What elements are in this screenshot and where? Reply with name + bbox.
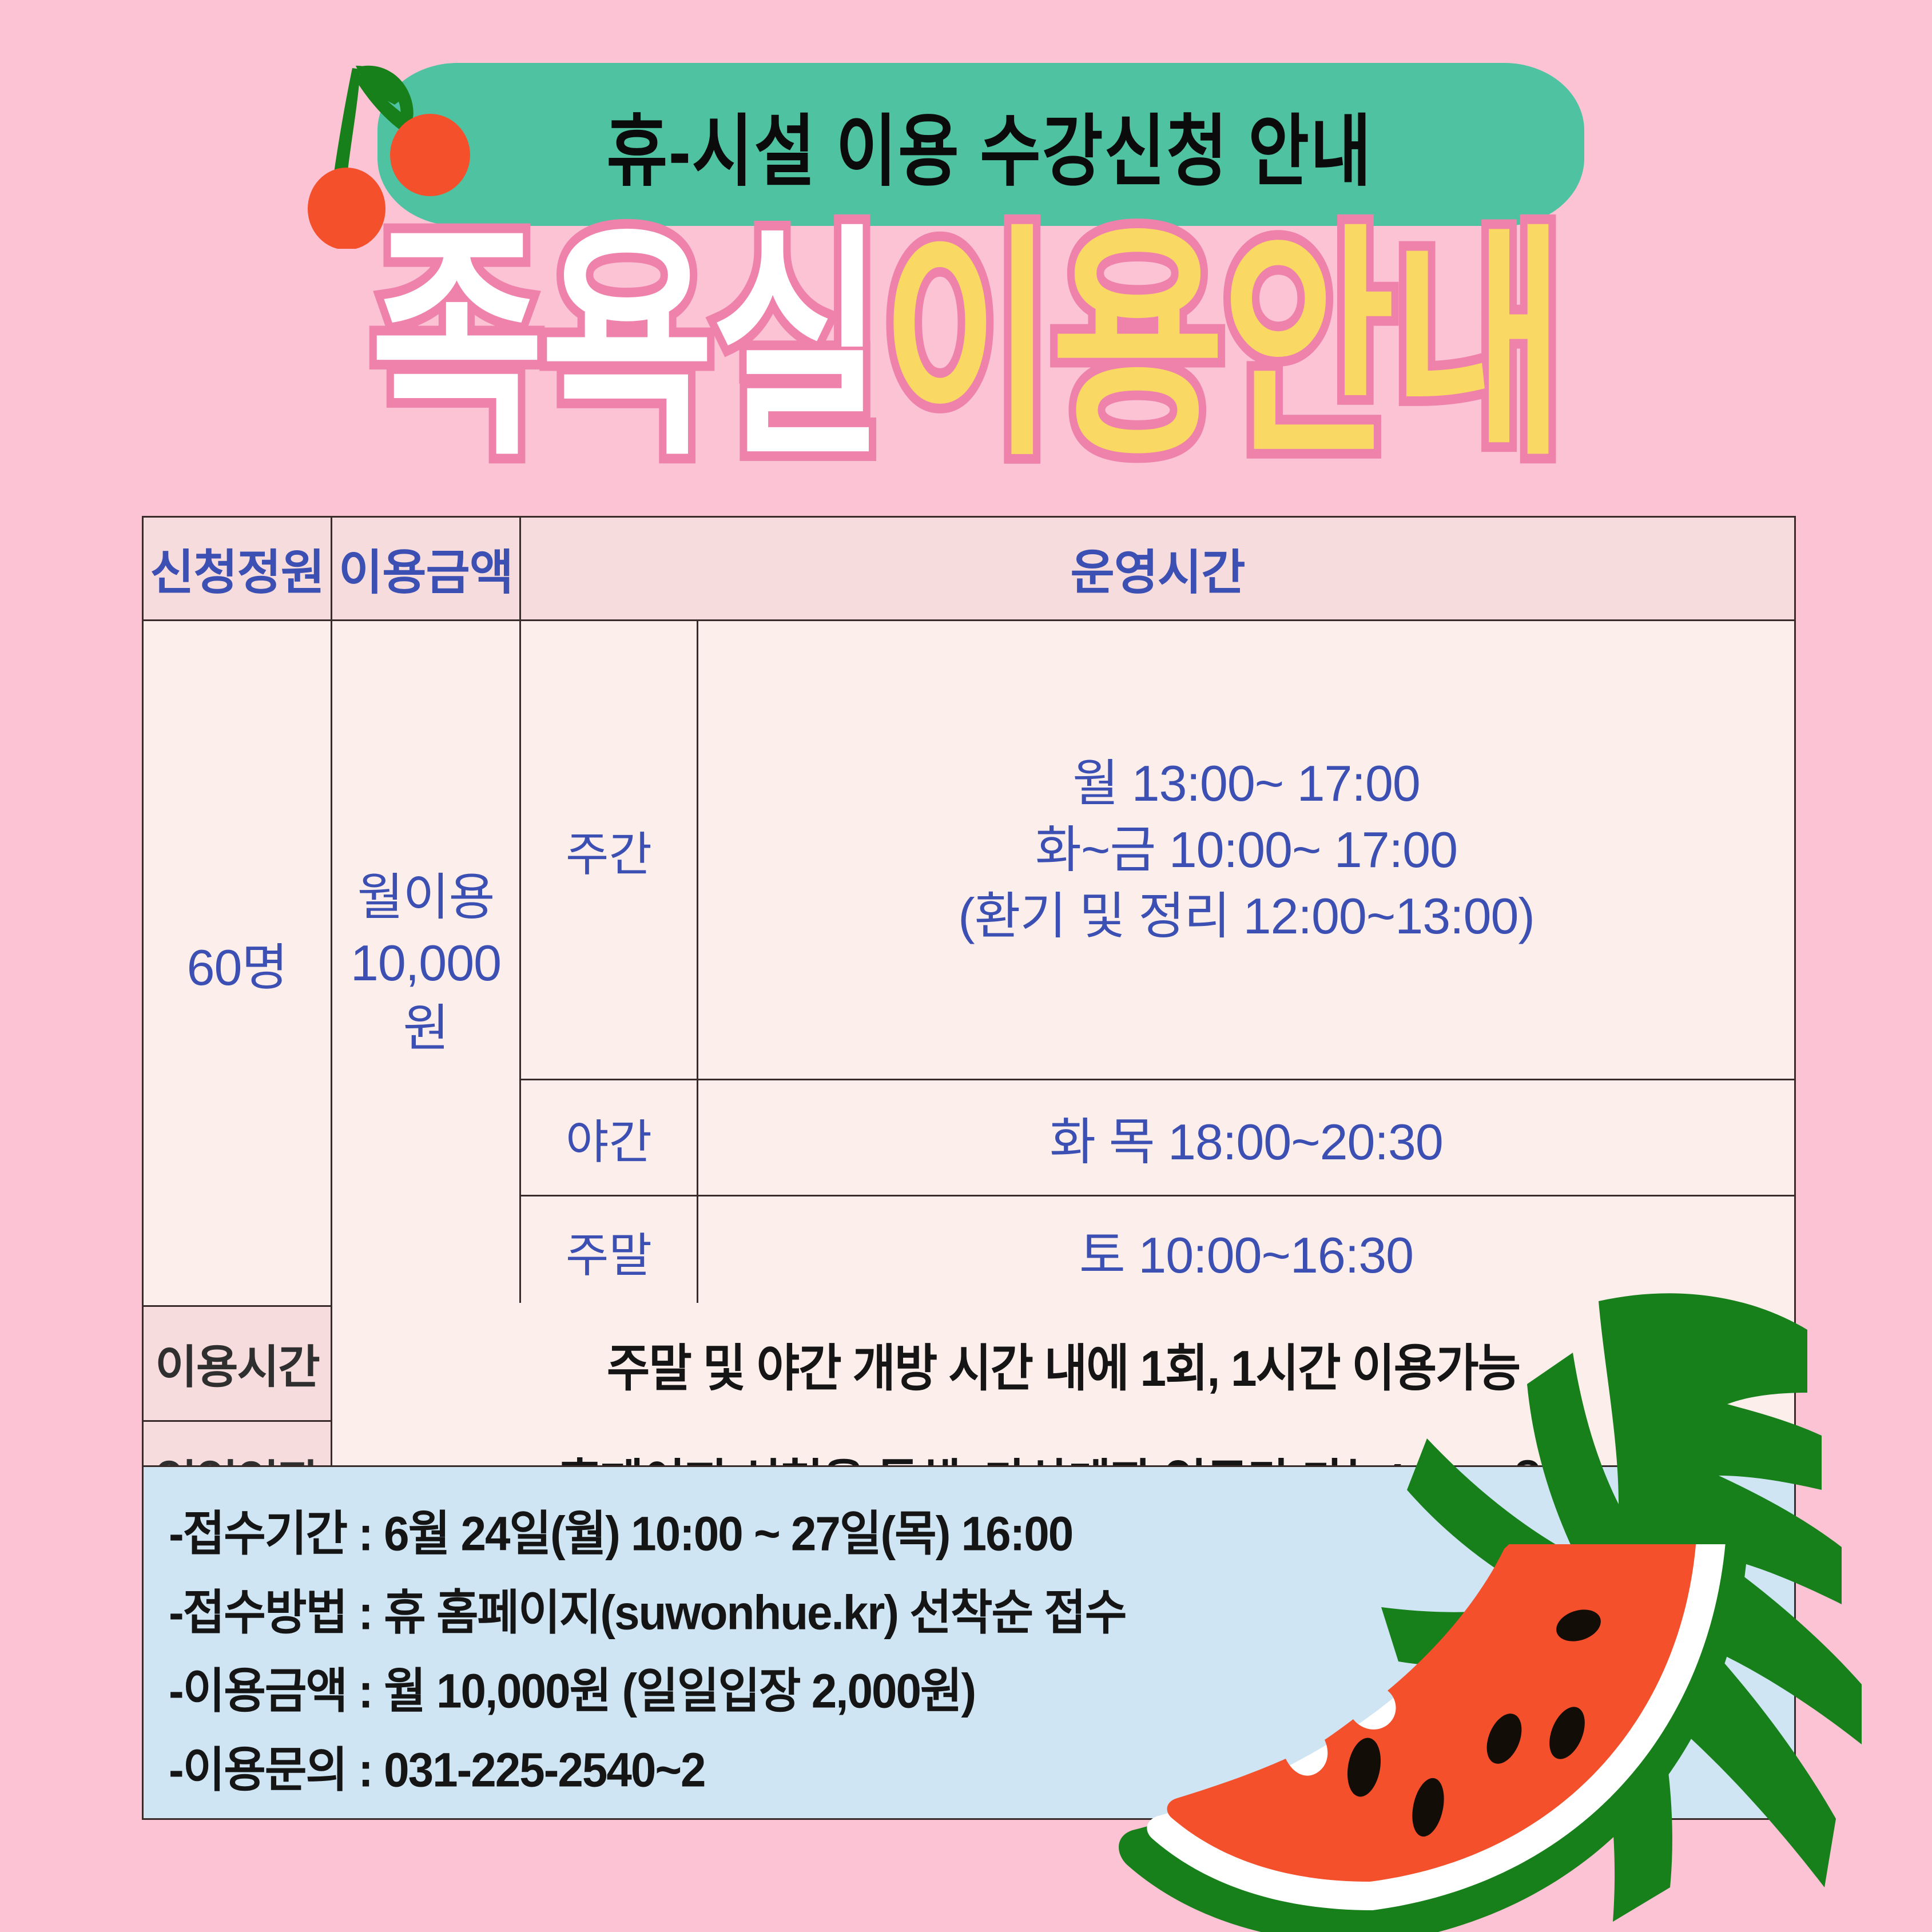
hours-label-daytime: 주간: [520, 621, 698, 1080]
hours-value-weekend: 토 10:00~16:30: [698, 1196, 1795, 1306]
notice-line-price: -이용금액 : 월 10,000원 (일일입장 2,000원): [169, 1650, 1794, 1732]
page-title-white-part: 족욕실: [370, 224, 881, 469]
application-notice-box: -접수기간 : 6월 24일(월) 10:00 ~ 27일(목) 16:00 -…: [142, 1465, 1796, 1820]
table-header-row: 신청정원 이용금액 운영시간: [143, 517, 1795, 621]
price-line-2: 10,000원: [332, 931, 519, 1062]
hours-value-night: 화 목 18:00~20:30: [698, 1080, 1795, 1196]
row-label-usetime: 이용시간: [143, 1306, 332, 1421]
row-value-usetime: 주말 및 야간 개방 시간 내에 1회, 1시간 이용가능: [332, 1301, 1795, 1425]
table-header-hours: 운영시간: [520, 517, 1795, 621]
notice-line-contact: -이용문의 : 031-225-2540~2: [169, 1728, 1794, 1811]
table-header-capacity: 신청정원: [143, 517, 332, 621]
hours-daytime-line-3: (환기 및 정리 12:00~13:00): [698, 883, 1794, 949]
notice-line-method: -접수방법 : 휴 홈페이지(suwonhue.kr) 선착순 접수: [169, 1571, 1794, 1653]
poster-canvas: 휴-시설 이용 수강신청 안내 족욕실이용안내 신청정원 이용금액 운영시간 6…: [0, 0, 1932, 1932]
notice-line-period: -접수기간 : 6월 24일(월) 10:00 ~ 27일(목) 16:00: [169, 1493, 1794, 1575]
capacity-value: 60명: [143, 621, 332, 1306]
hours-label-weekend: 주말: [520, 1196, 698, 1306]
page-title: 족욕실이용안내: [0, 226, 1932, 466]
page-title-yellow-part: 이용안내: [881, 224, 1561, 469]
table-row-capacity-price-daytime: 60명 월이용 10,000원 주간 월 13:00~ 17:00 화~금 10…: [143, 621, 1795, 1080]
hours-daytime-line-2: 화~금 10:00~ 17:00: [698, 817, 1794, 883]
price-line-1: 월이용: [332, 865, 519, 930]
price-value: 월이용 10,000원: [332, 621, 520, 1306]
header-banner: 휴-시설 이용 수강신청 안내: [377, 63, 1584, 226]
table-row-usetime: 이용시간 주말 및 야간 개방 시간 내에 1회, 1시간 이용가능: [143, 1306, 1795, 1421]
hours-daytime-line-1: 월 13:00~ 17:00: [698, 750, 1794, 817]
table-header-price: 이용금액: [332, 517, 520, 621]
hours-label-night: 야간: [520, 1080, 698, 1196]
hours-value-daytime: 월 13:00~ 17:00 화~금 10:00~ 17:00 (환기 및 정리…: [698, 621, 1795, 1080]
